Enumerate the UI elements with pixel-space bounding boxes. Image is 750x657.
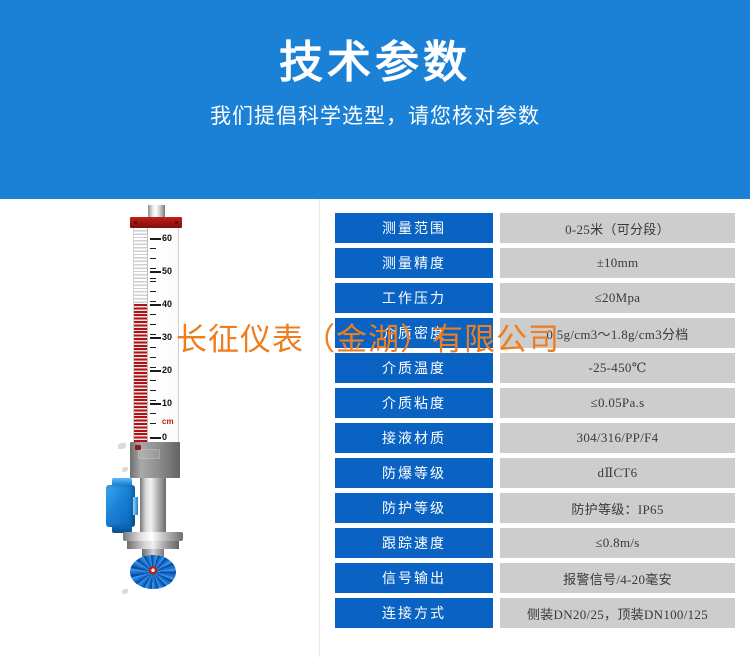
cell-gap <box>493 598 500 628</box>
decor-speck <box>118 443 126 449</box>
spec-label: 测量精度 <box>335 248 493 278</box>
decor-speck <box>122 467 128 472</box>
cell-gap <box>493 353 500 383</box>
spec-label: 介质温度 <box>335 353 493 383</box>
spec-value: 0-25米（可分段） <box>500 213 735 243</box>
spec-value: 侧装DN20/25，顶装DN100/125 <box>500 598 735 628</box>
spec-value: 0.5g/cm3～1.8g/cm3分档 <box>500 318 735 348</box>
scale-tick-label: 0 <box>162 433 167 442</box>
table-row: 介质粘度 ≤0.05Pa.s <box>335 388 735 418</box>
table-row: 防爆等级 dⅡCT6 <box>335 458 735 488</box>
table-row: 信号输出 报警信号/4-20毫安 <box>335 563 735 593</box>
scale-tick-minor <box>150 413 156 414</box>
instrument-nameplate <box>138 449 160 459</box>
scale-tick-minor <box>150 258 156 259</box>
spec-label: 防护等级 <box>335 493 493 523</box>
table-row: 连接方式 侧装DN20/25，顶装DN100/125 <box>335 598 735 628</box>
scale-tick-label: 30 <box>162 333 172 342</box>
cell-gap <box>493 213 500 243</box>
cell-gap <box>493 423 500 453</box>
scale-tick-minor <box>150 400 156 401</box>
spec-table: 测量范围 0-25米（可分段） 测量精度 ±10mm 工作压力 ≤20Mpa 介… <box>335 213 735 633</box>
cell-gap <box>493 388 500 418</box>
table-row: 接液材质 304/316/PP/F4 <box>335 423 735 453</box>
product-photo: 60 50 40 30 <box>0 199 320 657</box>
table-row: 测量范围 0-25米（可分段） <box>335 213 735 243</box>
scale-tick-minor <box>150 291 156 292</box>
spec-value: dⅡCT6 <box>500 458 735 488</box>
scale-ruler: 60 50 40 30 <box>150 228 180 442</box>
scale-tick-minor <box>150 278 156 279</box>
scale-tick-label: 50 <box>162 267 172 276</box>
scale-tick-minor <box>150 314 156 315</box>
spec-value: -25-450℃ <box>500 353 735 383</box>
scale-tick-major <box>150 437 161 439</box>
table-row: 跟踪速度 ≤0.8m/s <box>335 528 735 558</box>
spec-label: 防爆等级 <box>335 458 493 488</box>
cell-gap <box>493 528 500 558</box>
scale-tick-major <box>150 271 161 273</box>
spec-label: 介质密度 <box>335 318 493 348</box>
instrument-indicator <box>135 445 141 450</box>
scale-plate: 60 50 40 30 <box>133 228 179 442</box>
spec-value: 报警信号/4-20毫安 <box>500 563 735 593</box>
scale-tick-minor <box>150 367 156 368</box>
spec-label: 测量范围 <box>335 213 493 243</box>
cell-gap <box>493 458 500 488</box>
spec-value: ±10mm <box>500 248 735 278</box>
page-root: 技术参数 我们提倡科学选型，请您核对参数 60 50 <box>0 0 750 657</box>
scale-tick-label: 20 <box>162 366 172 375</box>
scale-unit-label: cm <box>162 418 174 426</box>
scale-tick-minor <box>150 248 156 249</box>
table-row: 介质密度 0.5g/cm3～1.8g/cm3分档 <box>335 318 735 348</box>
scale-tick-minor <box>150 423 156 424</box>
top-red-cap <box>130 217 182 228</box>
scale-tick-minor <box>150 268 156 269</box>
flap-column-empty <box>134 228 148 304</box>
cell-gap <box>493 248 500 278</box>
table-row: 工作压力 ≤20Mpa <box>335 283 735 313</box>
spec-value: ≤0.05Pa.s <box>500 388 735 418</box>
flange-lower <box>127 541 179 549</box>
scale-tick-label: 40 <box>162 300 172 309</box>
transmitter-mount <box>133 497 138 515</box>
header-banner: 技术参数 我们提倡科学选型，请您核对参数 <box>0 0 750 199</box>
cell-gap <box>493 563 500 593</box>
table-row: 介质温度 -25-450℃ <box>335 353 735 383</box>
flange-upper <box>123 532 183 541</box>
cell-gap <box>493 318 500 348</box>
spec-value: 防护等级：IP65 <box>500 493 735 523</box>
decor-speck <box>122 589 128 594</box>
valve-handwheel <box>130 555 176 589</box>
spec-label: 工作压力 <box>335 283 493 313</box>
scale-tick-minor <box>150 281 156 282</box>
photo-divider <box>319 199 320 657</box>
scale-tick-major <box>150 304 161 306</box>
cell-gap <box>493 283 500 313</box>
scale-tick-label: 10 <box>162 399 172 408</box>
scale-tick-major <box>150 403 161 405</box>
process-pipe <box>140 478 166 532</box>
scale-tick-major <box>150 238 161 240</box>
scale-tick-minor <box>150 324 156 325</box>
scale-tick-minor <box>150 380 156 381</box>
transmitter-box <box>106 485 135 527</box>
spec-label: 介质粘度 <box>335 388 493 418</box>
spec-value: ≤20Mpa <box>500 283 735 313</box>
spec-value: ≤0.8m/s <box>500 528 735 558</box>
spec-label: 接液材质 <box>335 423 493 453</box>
page-title: 技术参数 <box>0 38 750 89</box>
flap-column-liquid <box>134 304 148 442</box>
page-subtitle: 我们提倡科学选型，请您核对参数 <box>0 100 750 130</box>
scale-tick-major <box>150 370 161 372</box>
spec-label: 跟踪速度 <box>335 528 493 558</box>
table-row: 防护等级 防护等级：IP65 <box>335 493 735 523</box>
spec-label: 信号输出 <box>335 563 493 593</box>
cell-gap <box>493 493 500 523</box>
scale-tick-minor <box>150 357 156 358</box>
scale-tick-minor <box>150 301 156 302</box>
scale-tick-minor <box>150 334 156 335</box>
scale-tick-major <box>150 337 161 339</box>
scale-tick-label: 60 <box>162 234 172 243</box>
scale-tick-minor <box>150 390 156 391</box>
spec-value: 304/316/PP/F4 <box>500 423 735 453</box>
spec-label: 连接方式 <box>335 598 493 628</box>
scale-tick-minor <box>150 347 156 348</box>
table-row: 测量精度 ±10mm <box>335 248 735 278</box>
